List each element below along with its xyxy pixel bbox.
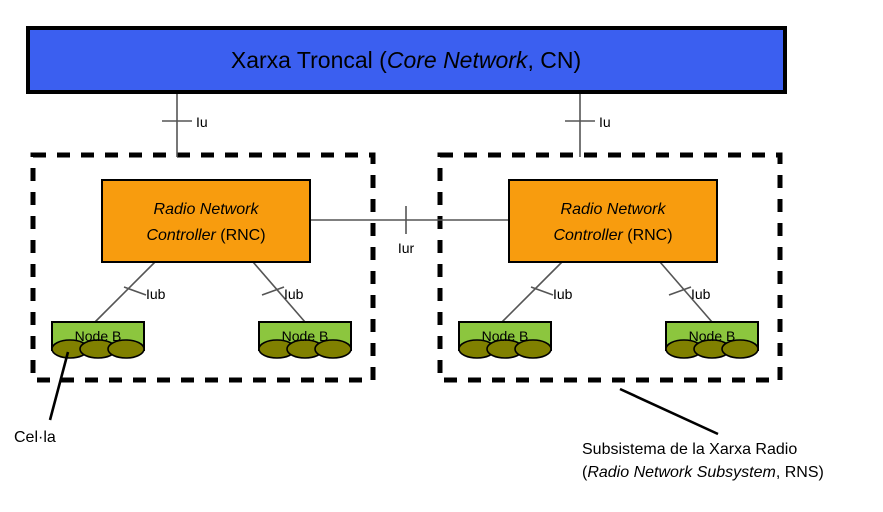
node-b-right-1[interactable]: Node B (459, 322, 551, 358)
rns-annotation-line1: Subsistema de la Xarxa Radio (582, 441, 797, 458)
iur-label: Iur (398, 240, 415, 256)
iub-label-right-1: Iub (553, 286, 573, 302)
cell-leader-line (50, 352, 68, 420)
rnc-box-right[interactable] (509, 180, 717, 262)
iub-tick-left-1 (124, 287, 146, 295)
rnc-label-left-line1: Radio Network (154, 201, 260, 218)
rnc-label-left-line2: Controller (RNC) (146, 227, 265, 244)
iu-label-right: Iu (599, 114, 611, 130)
node-b-label: Node B (689, 328, 736, 344)
node-b-right-2[interactable]: Node B (666, 322, 758, 358)
diagram-canvas: Xarxa Troncal (Core Network, CN) Radio N… (0, 0, 883, 512)
iub-label-left-2: Iub (284, 286, 304, 302)
cell-annotation-label: Cel·la (14, 429, 56, 446)
rns-leader-line (620, 389, 718, 434)
rnc-label-right-line2: Controller (RNC) (553, 227, 672, 244)
rnc-label-right-line1: Radio Network (561, 201, 667, 218)
iub-tick-right-1 (531, 287, 553, 295)
rns-annotation-line2: (Radio Network Subsystem, RNS) (582, 464, 824, 481)
rnc-box-left[interactable] (102, 180, 310, 262)
core-network-label: Xarxa Troncal (Core Network, CN) (231, 47, 581, 73)
node-b-left-2[interactable]: Node B (259, 322, 351, 358)
iu-label-left: Iu (196, 114, 208, 130)
node-b-label: Node B (282, 328, 329, 344)
iub-label-right-2: Iub (691, 286, 711, 302)
iub-label-left-1: Iub (146, 286, 166, 302)
node-b-left-1[interactable]: Node B (52, 322, 144, 358)
node-b-label: Node B (75, 328, 122, 344)
node-b-label: Node B (482, 328, 529, 344)
